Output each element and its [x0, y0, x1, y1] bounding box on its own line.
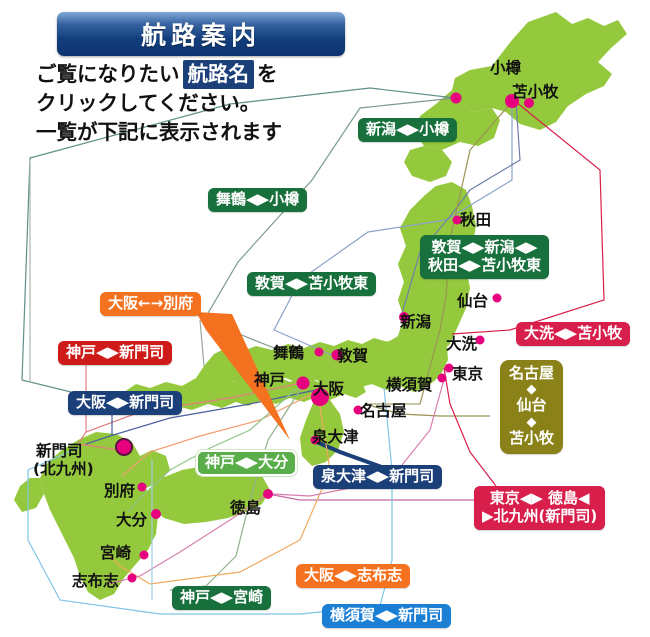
- route-button-tsuruga-niigata-akita-tomakomaihigashi[interactable]: 敦賀◀▶新潟◀▶秋田◀▶苫小牧東: [420, 235, 549, 279]
- marker-yokosuka: [438, 374, 447, 383]
- route-button-izumiotsu-shinmoji[interactable]: 泉大津◀▶新門司: [313, 465, 442, 489]
- intro-text: ご覧になりたい航路名を クリックしてください。 一覧が下記に表示されます: [36, 60, 336, 147]
- intro-line-1: ご覧になりたい航路名を: [36, 60, 336, 89]
- intro-line-1-after: を: [257, 62, 278, 86]
- marker-oita: [151, 509, 161, 519]
- city-label-tomakomai: 苫小牧: [512, 84, 559, 101]
- olive-diamond-2: ◆: [509, 416, 554, 429]
- route-button-oarai-tomakomai[interactable]: 大洗◀▶苫小牧: [516, 322, 630, 346]
- intro-line-3: 一覧が下記に表示されます: [36, 118, 336, 147]
- marker-sendai: [493, 294, 502, 303]
- route-button-kobe-oita[interactable]: 神戸◀▶大分: [196, 450, 297, 476]
- tokyo-route-line-1: 東京◀▶ 徳島◀: [482, 489, 597, 507]
- marker-otaru: [451, 93, 462, 104]
- marker-kobe: [297, 377, 310, 390]
- city-label-beppu: 別府: [104, 483, 135, 500]
- route-button-nagoya-sendai-tomakomai[interactable]: 名古屋 ◆ 仙台 ◆ 苫小牧: [500, 360, 563, 454]
- route-line-1: 敦賀◀▶新潟◀▶: [428, 238, 541, 256]
- route-button-osaka-shibushi[interactable]: 大阪◀▶志布志: [296, 564, 410, 588]
- tokyo-route-line-2: ▶北九州(新門司): [482, 507, 597, 525]
- city-label-miyazaki: 宮崎: [100, 545, 131, 562]
- city-label-tokushima: 徳島: [230, 500, 261, 517]
- city-label-kitakyushu: (北九州): [33, 461, 94, 478]
- page-header-bar: 航路案内: [57, 12, 345, 56]
- intro-line-2: クリックしてください。: [36, 89, 336, 118]
- marker-beppu: [138, 483, 147, 492]
- city-label-sendai: 仙台: [457, 293, 488, 310]
- city-label-tsuruga: 敦賀: [337, 348, 368, 365]
- city-label-nagoya: 名古屋: [360, 403, 407, 420]
- city-label-maizuru: 舞鶴: [273, 345, 304, 362]
- city-label-osaka: 大阪: [313, 381, 344, 398]
- route-button-tsuruga-tomakomaihigashi[interactable]: 敦賀◀▶苫小牧東: [247, 272, 376, 296]
- city-label-niigata: 新潟: [400, 314, 431, 331]
- page-title: 航路案内: [57, 12, 345, 56]
- olive-line-1: 名古屋: [509, 365, 554, 382]
- city-label-otaru: 小樽: [490, 60, 521, 77]
- marker-shibushi: [128, 574, 137, 583]
- route-button-kobe-miyazaki[interactable]: 神戸◀▶宮崎: [172, 586, 271, 610]
- marker-maizuru: [315, 348, 324, 357]
- route-button-osaka-shinmoji[interactable]: 大阪◀▶新門司: [68, 391, 182, 415]
- city-label-akita: 秋田: [460, 212, 491, 229]
- route-name-chip: 航路名: [183, 60, 255, 89]
- intro-line-1-before: ご覧になりたい: [36, 62, 180, 86]
- marker-tokushima: [263, 489, 273, 499]
- marker-shinmoji: [116, 439, 132, 455]
- olive-line-2: 仙台: [509, 397, 554, 414]
- marker-miyazaki: [140, 551, 149, 560]
- route-button-tokyo-tokushima-kitakyushu[interactable]: 東京◀▶ 徳島◀ ▶北九州(新門司): [474, 486, 605, 530]
- city-label-shibushi: 志布志: [72, 573, 119, 590]
- city-label-izumiotsu: 泉大津: [312, 429, 359, 446]
- olive-diamond-1: ◆: [509, 383, 554, 396]
- city-label-oarai: 大洗: [446, 336, 477, 353]
- city-label-shinmoji: 新門司: [36, 443, 83, 460]
- city-label-tokyo: 東京: [452, 366, 483, 383]
- route-button-yokosuka-shinmoji[interactable]: 横須賀◀▶新門司: [322, 604, 451, 628]
- route-button-maizuru-otaru[interactable]: 舞鶴◀▶小樽: [208, 188, 307, 212]
- route-button-kobe-shinmoji[interactable]: 神戸◀▶新門司: [58, 341, 172, 365]
- route-button-osaka-beppu[interactable]: 大阪←→別府: [100, 292, 201, 316]
- city-label-kobe: 神戸: [254, 372, 285, 389]
- city-label-yokosuka: 横須賀: [386, 377, 433, 394]
- ferry-route-map-page: 航路案内 ご覧になりたい航路名を クリックしてください。 一覧が下記に表示されま…: [0, 0, 650, 637]
- city-label-oita: 大分: [116, 512, 147, 529]
- olive-line-3: 苫小牧: [509, 430, 554, 447]
- route-button-niigata-otaru[interactable]: 新潟◀▶小樽: [358, 118, 457, 142]
- route-line-2: 秋田◀▶苫小牧東: [428, 256, 541, 274]
